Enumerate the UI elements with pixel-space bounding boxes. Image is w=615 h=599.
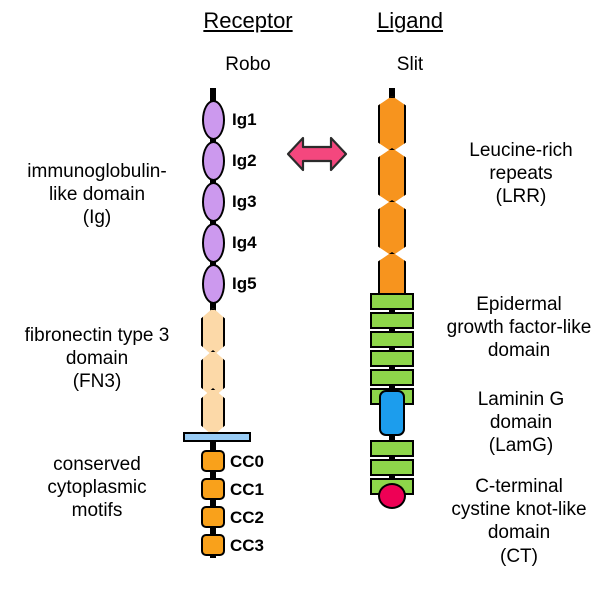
label-lrr-line1: Leucine-rich [428, 139, 614, 162]
ig-domain-5 [202, 264, 225, 304]
label-leucine-rich-repeats: Leucine-rich repeats (LRR) [428, 139, 614, 209]
robo-protein-name: Robo [168, 54, 328, 76]
laminin-g-domain-shape [379, 390, 405, 436]
plasma-membrane-bar [183, 432, 251, 442]
label-lamg-line1: Laminin G [428, 388, 614, 411]
egf-domain-lower-1 [370, 440, 414, 457]
label-fn3-line2: domain [2, 347, 192, 370]
double-headed-arrow-icon [286, 133, 348, 175]
label-conserved-cytoplasmic-motifs: conserved cytoplasmic motifs [2, 453, 192, 523]
ig-domain-2 [202, 141, 225, 181]
label-ct-line4: (CT) [423, 545, 615, 568]
fn3-domain-1 [201, 308, 225, 356]
lrr-domain-2 [378, 148, 406, 204]
label-lrr-line2: repeats [428, 162, 614, 185]
lrr-domain-1 [378, 96, 406, 152]
label-egf-like-domain: Epidermal growth factor-like domain [423, 293, 615, 363]
label-fibronectin-type3-domain: fibronectin type 3 domain (FN3) [2, 324, 192, 394]
label-c-terminal-cystine-knot-domain: C-terminal cystine knot-like domain (CT) [423, 475, 615, 568]
label-cc-line2: cytoplasmic [2, 476, 192, 499]
fn3-domain-3 [201, 388, 225, 436]
label-ct-line1: C-terminal [423, 475, 615, 498]
egf-domain-upper-4 [370, 350, 414, 367]
label-ig-line2: like domain [2, 183, 192, 206]
ig-domain-label-2: Ig2 [232, 151, 257, 171]
label-lrr-line3: (LRR) [428, 185, 614, 208]
ig-domain-3 [202, 182, 225, 222]
cc-motif-label-3: CC3 [230, 536, 264, 556]
egf-domain-upper-1 [370, 293, 414, 310]
label-egf-line2: growth factor-like [423, 316, 615, 339]
egf-domain-lower-2 [370, 459, 414, 476]
ig-domain-label-1: Ig1 [232, 110, 257, 130]
cc-motif-label-1: CC1 [230, 480, 264, 500]
lrr-domain-3 [378, 200, 406, 256]
egf-domain-upper-2 [370, 312, 414, 329]
label-laminin-g-domain: Laminin G domain (LamG) [428, 388, 614, 458]
label-cc-line1: conserved [2, 453, 192, 476]
cc-motif-1 [201, 478, 225, 500]
cc-motif-2 [201, 506, 225, 528]
c-terminal-cystine-knot-domain-shape [378, 483, 406, 509]
cc-motif-label-0: CC0 [230, 452, 264, 472]
ig-domain-4 [202, 223, 225, 263]
label-egf-line1: Epidermal [423, 293, 615, 316]
ig-domain-label-3: Ig3 [232, 192, 257, 212]
cc-motif-0 [201, 450, 225, 472]
robo-slit-interaction-arrow [286, 133, 348, 175]
ligand-column-header: Ligand [330, 8, 490, 34]
label-fn3-line3: (FN3) [2, 370, 192, 393]
label-lamg-line3: (LamG) [428, 434, 614, 457]
egf-domain-upper-5 [370, 369, 414, 386]
ig-domain-1 [202, 100, 225, 140]
label-egf-line3: domain [423, 339, 615, 362]
label-ig-line3: (Ig) [2, 206, 192, 229]
ig-domain-label-4: Ig4 [232, 233, 257, 253]
label-ig-line1: immunoglobulin- [2, 160, 192, 183]
cc-motif-3 [201, 534, 225, 556]
label-lamg-line2: domain [428, 411, 614, 434]
slit-protein-name: Slit [330, 54, 490, 76]
ig-domain-label-5: Ig5 [232, 274, 257, 294]
label-ct-line3: domain [423, 521, 615, 544]
egf-domain-upper-3 [370, 331, 414, 348]
cc-motif-label-2: CC2 [230, 508, 264, 528]
label-cc-line3: motifs [2, 499, 192, 522]
label-fn3-line1: fibronectin type 3 [2, 324, 192, 347]
label-ct-line2: cystine knot-like [423, 498, 615, 521]
label-immunoglobulin-domain: immunoglobulin- like domain (Ig) [2, 160, 192, 230]
receptor-column-header: Receptor [168, 8, 328, 34]
